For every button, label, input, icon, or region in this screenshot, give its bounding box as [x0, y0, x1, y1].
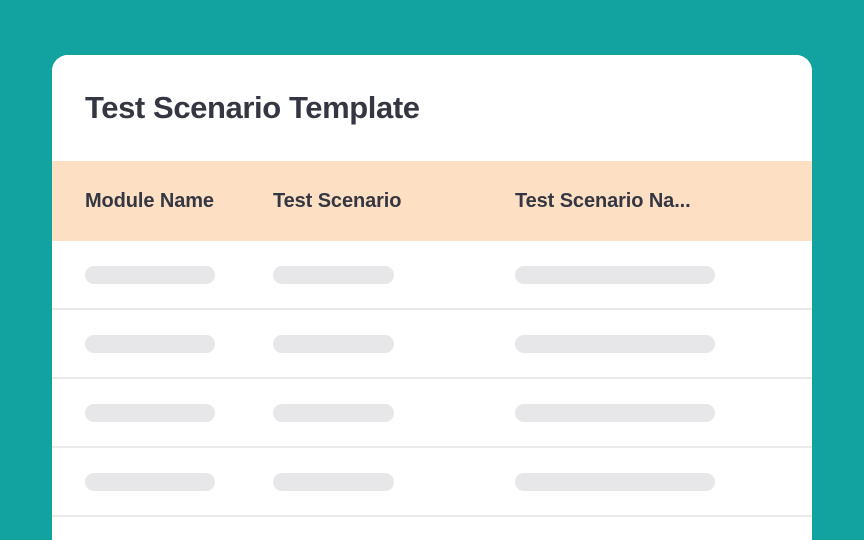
placeholder-bar	[85, 335, 215, 353]
table-row[interactable]	[52, 310, 812, 379]
table-cell-test-scenario[interactable]	[273, 473, 515, 491]
table-cell-test-scenario[interactable]	[273, 266, 515, 284]
table-body	[52, 241, 812, 540]
placeholder-bar	[85, 266, 215, 284]
test-scenario-card: Test Scenario Template Module Name Test …	[52, 55, 812, 540]
table-cell-test-scenario[interactable]	[273, 404, 515, 422]
table-cell-test-scenario-name[interactable]	[515, 266, 812, 284]
page-title: Test Scenario Template	[85, 91, 420, 125]
table-cell-test-scenario-name[interactable]	[515, 404, 812, 422]
placeholder-bar	[515, 335, 715, 353]
placeholder-bar	[515, 473, 715, 491]
table-row[interactable]	[52, 379, 812, 448]
card-header: Test Scenario Template	[52, 55, 812, 161]
column-header-test-scenario-name[interactable]: Test Scenario Na...	[515, 190, 812, 213]
table-header-row: Module Name Test Scenario Test Scenario …	[52, 161, 812, 241]
table-cell-test-scenario[interactable]	[273, 335, 515, 353]
placeholder-bar	[515, 266, 715, 284]
placeholder-bar	[273, 335, 394, 353]
table-row[interactable]	[52, 448, 812, 517]
table-cell-module-name[interactable]	[52, 266, 273, 284]
table-row[interactable]	[52, 517, 812, 540]
placeholder-bar	[515, 404, 715, 422]
placeholder-bar	[85, 404, 215, 422]
placeholder-bar	[273, 404, 394, 422]
table-cell-module-name[interactable]	[52, 404, 273, 422]
page-background: Test Scenario Template Module Name Test …	[0, 0, 864, 540]
column-header-module-name[interactable]: Module Name	[52, 190, 273, 213]
table-cell-test-scenario-name[interactable]	[515, 335, 812, 353]
table-cell-module-name[interactable]	[52, 335, 273, 353]
placeholder-bar	[273, 473, 394, 491]
table-cell-module-name[interactable]	[52, 473, 273, 491]
column-header-test-scenario[interactable]: Test Scenario	[273, 190, 515, 213]
placeholder-bar	[273, 266, 394, 284]
placeholder-bar	[85, 473, 215, 491]
table-cell-test-scenario-name[interactable]	[515, 473, 812, 491]
table-row[interactable]	[52, 241, 812, 310]
